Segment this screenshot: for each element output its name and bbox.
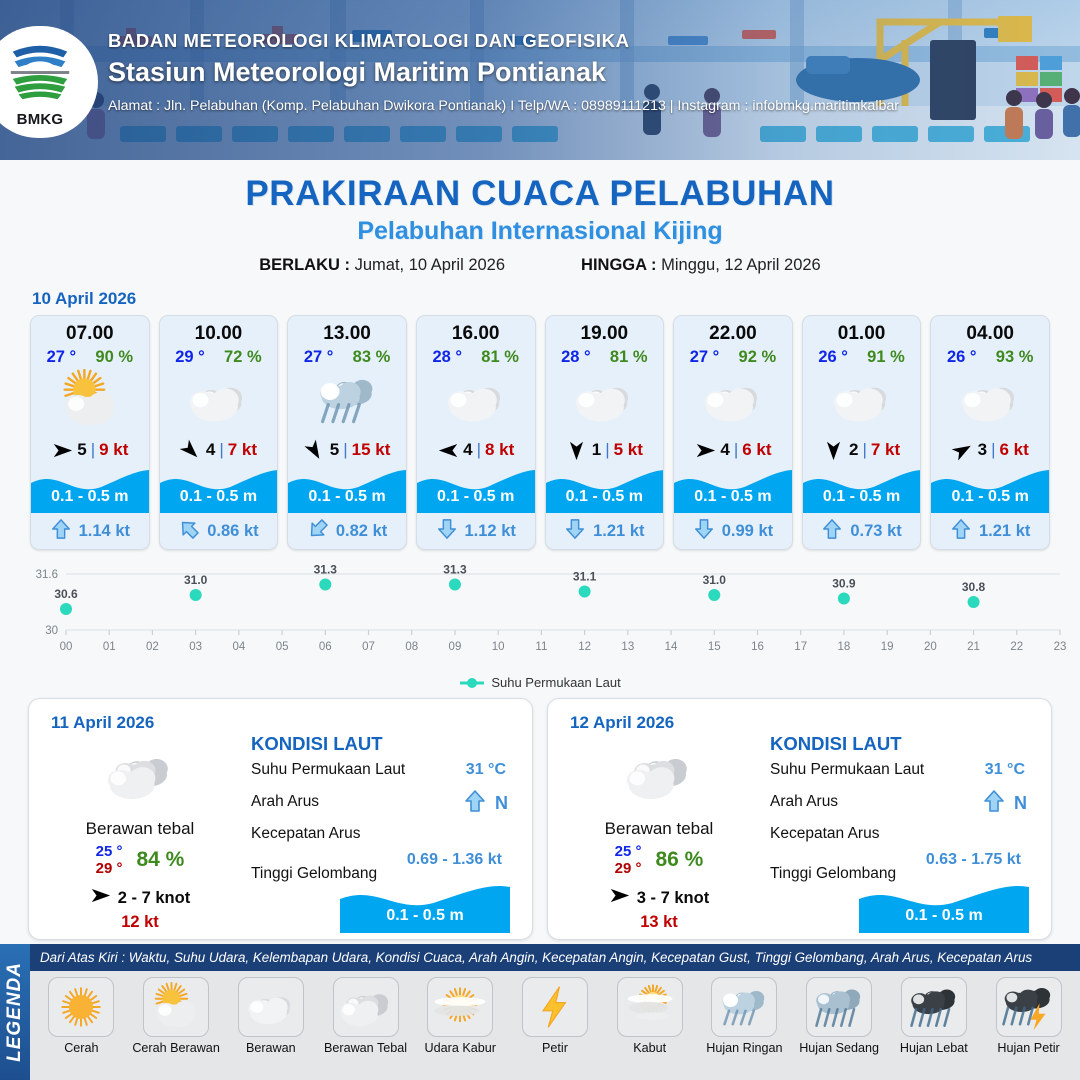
svg-text:04: 04 xyxy=(232,641,245,653)
page-title: PRAKIRAAN CUACA PELABUHAN xyxy=(0,174,1080,214)
card-temperature: 27 ° xyxy=(47,348,77,367)
card-time: 13.00 xyxy=(288,316,406,345)
wind-speed: 3 xyxy=(978,440,987,460)
card-wind: 5|15 kt xyxy=(288,433,406,467)
wind-direction-arrow-icon xyxy=(304,440,326,460)
svg-text:09: 09 xyxy=(449,641,462,653)
svg-text:21: 21 xyxy=(967,641,980,653)
wind-separator: | xyxy=(734,440,738,460)
legend-note: Dari Atas Kiri : Waktu, Suhu Udara, Kele… xyxy=(30,944,1080,971)
petir-icon xyxy=(522,977,588,1037)
page-subtitle: Pelabuhan Internasional Kijing xyxy=(0,217,1080,246)
card-time: 22.00 xyxy=(674,316,792,345)
daily-temp-min: 25 ° xyxy=(96,843,123,860)
wind-separator: | xyxy=(91,440,95,460)
chart-legend-label: Suhu Permukaan Laut xyxy=(491,675,620,690)
legend-item-label: Cerah xyxy=(36,1041,126,1055)
current-speed: 0.82 kt xyxy=(336,522,387,541)
card-humidity: 81 % xyxy=(481,348,519,367)
berawan-icon xyxy=(674,367,792,433)
svg-text:10: 10 xyxy=(492,641,505,653)
card-temperature: 26 ° xyxy=(947,348,977,367)
svg-text:18: 18 xyxy=(838,641,851,653)
legend-item: Berawan xyxy=(226,977,316,1055)
wind-gust: 6 kt xyxy=(742,440,771,460)
current-direction-label: Arah Arus xyxy=(770,793,838,810)
svg-text:02: 02 xyxy=(146,641,159,653)
current-direction-arrow-icon xyxy=(821,518,843,545)
daily-date: 11 April 2026 xyxy=(51,713,154,733)
current-direction-arrow-icon xyxy=(950,518,972,545)
svg-text:31.3: 31.3 xyxy=(314,564,338,577)
card-time: 04.00 xyxy=(931,316,1049,345)
hujan-ringan-icon xyxy=(711,977,777,1037)
berawan-tebal-icon xyxy=(333,977,399,1037)
current-direction-arrow-icon xyxy=(564,518,586,545)
legend-item: Hujan Lebat xyxy=(889,977,979,1055)
card-time: 16.00 xyxy=(417,316,535,345)
wind-direction-arrow-icon xyxy=(694,440,716,460)
card-temperature: 28 ° xyxy=(432,348,462,367)
sst-label: Suhu Permukaan Laut xyxy=(770,761,924,778)
current-speed-label: Kecepatan Arus xyxy=(770,825,879,842)
card-wind: 4|8 kt xyxy=(417,433,535,467)
svg-text:30.8: 30.8 xyxy=(962,580,986,594)
current-direction-value: N xyxy=(495,793,508,814)
wave-height: 0.1 - 0.5 m xyxy=(160,488,278,506)
sea-condition-title: KONDISI LAUT xyxy=(251,733,518,755)
sst-label: Suhu Permukaan Laut xyxy=(251,761,405,778)
valid-to-label: HINGGA : xyxy=(581,256,656,274)
card-current: 0.99 kt xyxy=(674,513,792,549)
card-humidity: 93 % xyxy=(996,348,1034,367)
wave-height-value: 0.1 - 0.5 m xyxy=(859,907,1029,925)
udara-kabur-icon xyxy=(427,977,493,1037)
daily-condition: Berawan tebal xyxy=(564,819,754,839)
svg-text:03: 03 xyxy=(189,641,202,653)
wind-gust: 6 kt xyxy=(999,440,1028,460)
daily-wind-direction-arrow-icon xyxy=(90,885,111,911)
card-temperature: 27 ° xyxy=(690,348,720,367)
berawan-tebal-icon xyxy=(45,743,235,807)
station-name: Stasiun Meteorologi Maritim Pontianak xyxy=(108,57,899,88)
hourly-card: 19.0028 °81 %1|5 kt0.1 - 0.5 m1.21 kt xyxy=(545,315,665,550)
hourly-card: 13.0027 °83 %5|15 kt0.1 - 0.5 m0.82 kt xyxy=(287,315,407,550)
valid-from: BERLAKU : Jumat, 10 April 2026 xyxy=(259,256,505,275)
berawan-icon xyxy=(546,367,664,433)
hujan-lebat-icon xyxy=(901,977,967,1037)
legend-item: Cerah Berawan xyxy=(131,977,221,1055)
wind-speed: 5 xyxy=(77,440,86,460)
daily-gust: 12 kt xyxy=(45,913,235,932)
card-wind: 2|7 kt xyxy=(803,433,921,467)
legend-item-label: Berawan Tebal xyxy=(321,1041,411,1055)
wave-height-badge: 0.1 - 0.5 m xyxy=(340,877,510,933)
daily-humidity: 84 % xyxy=(136,848,184,872)
card-temperature: 29 ° xyxy=(175,348,205,367)
current-speed: 1.21 kt xyxy=(979,522,1030,541)
card-wave: 0.1 - 0.5 m xyxy=(160,467,278,513)
daily-wind-range: 3 - 7 knot xyxy=(637,889,709,908)
berawan-icon xyxy=(160,367,278,433)
station-address: Alamat : Jln. Pelabuhan (Komp. Pelabuhan… xyxy=(108,98,899,114)
legend-items-row: CerahCerah BerawanBerawanBerawan TebalUd… xyxy=(30,971,1080,1055)
card-wind: 4|6 kt xyxy=(674,433,792,467)
current-direction-arrow-icon xyxy=(436,518,458,545)
wind-separator: | xyxy=(991,440,995,460)
berawan-tebal-icon xyxy=(564,743,754,807)
card-humidity: 90 % xyxy=(95,348,133,367)
hourly-card: 16.0028 °81 %4|8 kt0.1 - 0.5 m1.12 kt xyxy=(416,315,536,550)
daily-temp-max: 29 ° xyxy=(615,860,642,877)
hujan-ringan-icon xyxy=(288,367,406,433)
card-time: 10.00 xyxy=(160,316,278,345)
card-humidity: 92 % xyxy=(739,348,777,367)
card-wave: 0.1 - 0.5 m xyxy=(803,467,921,513)
svg-text:05: 05 xyxy=(276,641,289,653)
current-direction-arrow-icon xyxy=(307,518,329,545)
chart-legend: Suhu Permukaan Laut xyxy=(0,675,1080,690)
current-direction-arrow-icon xyxy=(50,518,72,545)
current-speed: 0.73 kt xyxy=(850,522,901,541)
card-time: 07.00 xyxy=(31,316,149,345)
valid-from-label: BERLAKU : xyxy=(259,256,350,274)
wind-gust: 8 kt xyxy=(485,440,514,460)
daily-gust: 13 kt xyxy=(564,913,754,932)
hujan-sedang-icon xyxy=(806,977,872,1037)
card-humidity: 83 % xyxy=(353,348,391,367)
hourly-card: 22.0027 °92 %4|6 kt0.1 - 0.5 m0.99 kt xyxy=(673,315,793,550)
svg-text:06: 06 xyxy=(319,641,332,653)
current-direction-value: N xyxy=(1014,793,1027,814)
card-wave: 0.1 - 0.5 m xyxy=(674,467,792,513)
svg-text:08: 08 xyxy=(405,641,418,653)
wind-speed: 4 xyxy=(206,440,215,460)
wave-height-value: 0.1 - 0.5 m xyxy=(340,907,510,925)
svg-text:30.6: 30.6 xyxy=(54,587,78,601)
svg-text:31.3: 31.3 xyxy=(443,564,467,577)
svg-text:11: 11 xyxy=(535,641,547,653)
valid-from-value: Jumat, 10 April 2026 xyxy=(355,256,505,274)
card-temperature: 28 ° xyxy=(561,348,591,367)
card-wave: 0.1 - 0.5 m xyxy=(931,467,1049,513)
card-humidity: 91 % xyxy=(867,348,905,367)
cerah-icon xyxy=(48,977,114,1037)
title-block: PRAKIRAAN CUACA PELABUHAN Pelabuhan Inte… xyxy=(0,160,1080,275)
card-current: 1.21 kt xyxy=(546,513,664,549)
wind-direction-arrow-icon xyxy=(437,440,459,460)
page-header: BMKG BADAN METEOROLOGI KLIMATOLOGI DAN G… xyxy=(0,0,1080,160)
current-speed: 1.12 kt xyxy=(465,522,516,541)
legend-item: Hujan Ringan xyxy=(699,977,789,1055)
bmkg-emblem-icon xyxy=(2,36,78,110)
wave-height: 0.1 - 0.5 m xyxy=(31,488,149,506)
card-humidity: 72 % xyxy=(224,348,262,367)
current-speed: 0.99 kt xyxy=(722,522,773,541)
legend-item-label: Hujan Ringan xyxy=(699,1041,789,1055)
daily-forecast-card: 11 April 2026Berawan tebal25 °29 °84 %2 … xyxy=(28,698,533,940)
current-direction-label: Arah Arus xyxy=(251,793,319,810)
svg-text:12: 12 xyxy=(578,641,591,653)
current-speed: 1.21 kt xyxy=(593,522,644,541)
svg-text:16: 16 xyxy=(751,641,764,653)
wind-speed: 2 xyxy=(849,440,858,460)
berawan-icon xyxy=(417,367,535,433)
kabut-icon xyxy=(617,977,683,1037)
legend-item: Udara Kabur xyxy=(415,977,505,1055)
card-current: 0.82 kt xyxy=(288,513,406,549)
wave-height: 0.1 - 0.5 m xyxy=(417,488,535,506)
svg-text:01: 01 xyxy=(103,641,116,653)
berawan-icon xyxy=(238,977,304,1037)
daily-wind-range: 2 - 7 knot xyxy=(118,889,190,908)
hourly-forecast-row: 07.0027 °90 %5|9 kt0.1 - 0.5 m1.14 kt10.… xyxy=(0,315,1080,550)
legend-side-banner: LEGENDA xyxy=(0,944,30,1080)
wind-gust: 15 kt xyxy=(352,440,391,460)
wave-height: 0.1 - 0.5 m xyxy=(288,488,406,506)
svg-text:30: 30 xyxy=(45,625,58,637)
legend-item-label: Udara Kabur xyxy=(415,1041,505,1055)
validity-period: BERLAKU : Jumat, 10 April 2026 HINGGA : … xyxy=(0,256,1080,275)
card-wave: 0.1 - 0.5 m xyxy=(546,467,664,513)
legend-item-label: Hujan Lebat xyxy=(889,1041,979,1055)
wind-direction-arrow-icon xyxy=(952,440,974,460)
legend-item-label: Hujan Petir xyxy=(984,1041,1074,1055)
card-wind: 4|7 kt xyxy=(160,433,278,467)
wave-height: 0.1 - 0.5 m xyxy=(803,488,921,506)
daily-current-arrow-icon xyxy=(982,789,1006,818)
hujan-petir-icon xyxy=(996,977,1062,1037)
wind-separator: | xyxy=(862,440,866,460)
legend-item: Petir xyxy=(510,977,600,1055)
card-wave: 0.1 - 0.5 m xyxy=(288,467,406,513)
sst-chart-plot: 3031.60001020304050607080910111213141516… xyxy=(0,564,1080,672)
daily-forecast-card: 12 April 2026Berawan tebal25 °29 °86 %3 … xyxy=(547,698,1052,940)
wind-separator: | xyxy=(343,440,347,460)
cerah-berawan-icon xyxy=(31,367,149,433)
legend-item: Kabut xyxy=(605,977,695,1055)
sst-value: 31 °C xyxy=(466,761,506,779)
legend-item-label: Cerah Berawan xyxy=(131,1041,221,1055)
daily-current-arrow-icon xyxy=(463,789,487,818)
legend-item: Cerah xyxy=(36,977,126,1055)
svg-text:20: 20 xyxy=(924,641,937,653)
wind-direction-arrow-icon xyxy=(566,440,588,460)
berawan-icon xyxy=(803,367,921,433)
current-speed-label: Kecepatan Arus xyxy=(251,825,360,842)
current-speed: 0.86 kt xyxy=(207,522,258,541)
sst-chart: 3031.60001020304050607080910111213141516… xyxy=(0,564,1080,674)
sea-condition-title: KONDISI LAUT xyxy=(770,733,1037,755)
wind-gust: 7 kt xyxy=(871,440,900,460)
legend-side-title: LEGENDA xyxy=(4,962,26,1062)
legend-item: Berawan Tebal xyxy=(321,977,411,1055)
current-speed: 1.14 kt xyxy=(79,522,130,541)
current-direction-arrow-icon xyxy=(693,518,715,545)
svg-text:31.0: 31.0 xyxy=(184,573,208,587)
svg-text:14: 14 xyxy=(665,641,678,653)
card-current: 1.12 kt xyxy=(417,513,535,549)
svg-text:31.1: 31.1 xyxy=(573,570,597,584)
legend-section: LEGENDA Dari Atas Kiri : Waktu, Suhu Uda… xyxy=(0,944,1080,1080)
legend-item: Hujan Sedang xyxy=(794,977,884,1055)
card-wind: 1|5 kt xyxy=(546,433,664,467)
card-current: 1.21 kt xyxy=(931,513,1049,549)
wind-separator: | xyxy=(605,440,609,460)
bmkg-logo-text: BMKG xyxy=(2,111,78,128)
card-wind: 5|9 kt xyxy=(31,433,149,467)
card-time: 19.00 xyxy=(546,316,664,345)
svg-text:00: 00 xyxy=(60,641,73,653)
hourly-card: 01.0026 °91 %2|7 kt0.1 - 0.5 m0.73 kt xyxy=(802,315,922,550)
card-humidity: 81 % xyxy=(610,348,648,367)
hourly-date-label: 10 April 2026 xyxy=(32,289,1080,309)
wave-height: 0.1 - 0.5 m xyxy=(931,488,1049,506)
wind-separator: | xyxy=(477,440,481,460)
wind-speed: 5 xyxy=(330,440,339,460)
wind-gust: 7 kt xyxy=(228,440,257,460)
card-temperature: 27 ° xyxy=(304,348,334,367)
sst-value: 31 °C xyxy=(985,761,1025,779)
wind-gust: 9 kt xyxy=(99,440,128,460)
svg-text:13: 13 xyxy=(621,641,634,653)
agency-name: BADAN METEOROLOGI KLIMATOLOGI DAN GEOFIS… xyxy=(108,30,899,52)
current-direction-arrow-icon xyxy=(178,518,200,545)
daily-temp-max: 29 ° xyxy=(96,860,123,877)
card-wave: 0.1 - 0.5 m xyxy=(31,467,149,513)
svg-text:07: 07 xyxy=(362,641,375,653)
wind-speed: 4 xyxy=(720,440,729,460)
daily-wind-direction-arrow-icon xyxy=(609,885,630,911)
daily-condition: Berawan tebal xyxy=(45,819,235,839)
svg-text:15: 15 xyxy=(708,641,721,653)
svg-text:19: 19 xyxy=(881,641,894,653)
hourly-card: 10.0029 °72 %4|7 kt0.1 - 0.5 m0.86 kt xyxy=(159,315,279,550)
card-current: 1.14 kt xyxy=(31,513,149,549)
daily-humidity: 86 % xyxy=(655,848,703,872)
hourly-card: 04.0026 °93 %3|6 kt0.1 - 0.5 m1.21 kt xyxy=(930,315,1050,550)
svg-text:31.6: 31.6 xyxy=(36,569,58,581)
wind-direction-arrow-icon xyxy=(180,440,202,460)
valid-to-value: Minggu, 12 April 2026 xyxy=(661,256,821,274)
svg-text:22: 22 xyxy=(1010,641,1023,653)
card-wind: 3|6 kt xyxy=(931,433,1049,467)
card-wave: 0.1 - 0.5 m xyxy=(417,467,535,513)
legend-item-label: Petir xyxy=(510,1041,600,1055)
legend-item-label: Berawan xyxy=(226,1041,316,1055)
svg-text:30.9: 30.9 xyxy=(832,577,856,591)
svg-text:23: 23 xyxy=(1054,641,1067,653)
svg-text:31.0: 31.0 xyxy=(703,573,727,587)
daily-temp-min: 25 ° xyxy=(615,843,642,860)
wind-speed: 1 xyxy=(592,440,601,460)
sst-legend-marker-icon xyxy=(459,677,485,689)
card-current: 0.73 kt xyxy=(803,513,921,549)
card-temperature: 26 ° xyxy=(818,348,848,367)
wind-separator: | xyxy=(219,440,223,460)
wave-height-badge: 0.1 - 0.5 m xyxy=(859,877,1029,933)
card-current: 0.86 kt xyxy=(160,513,278,549)
wind-speed: 4 xyxy=(463,440,472,460)
wind-direction-arrow-icon xyxy=(51,440,73,460)
daily-forecast-row: 11 April 2026Berawan tebal25 °29 °84 %2 … xyxy=(0,690,1080,940)
berawan-icon xyxy=(931,367,1049,433)
daily-date: 12 April 2026 xyxy=(570,713,674,733)
legend-item-label: Kabut xyxy=(605,1041,695,1055)
wave-height: 0.1 - 0.5 m xyxy=(674,488,792,506)
cerah-berawan-icon xyxy=(143,977,209,1037)
svg-text:17: 17 xyxy=(794,641,807,653)
legend-item-label: Hujan Sedang xyxy=(794,1041,884,1055)
valid-to: HINGGA : Minggu, 12 April 2026 xyxy=(581,256,821,275)
card-time: 01.00 xyxy=(803,316,921,345)
wind-gust: 5 kt xyxy=(614,440,643,460)
legend-item: Hujan Petir xyxy=(984,977,1074,1055)
wind-direction-arrow-icon xyxy=(823,440,845,460)
wave-height: 0.1 - 0.5 m xyxy=(546,488,664,506)
hourly-card: 07.0027 °90 %5|9 kt0.1 - 0.5 m1.14 kt xyxy=(30,315,150,550)
